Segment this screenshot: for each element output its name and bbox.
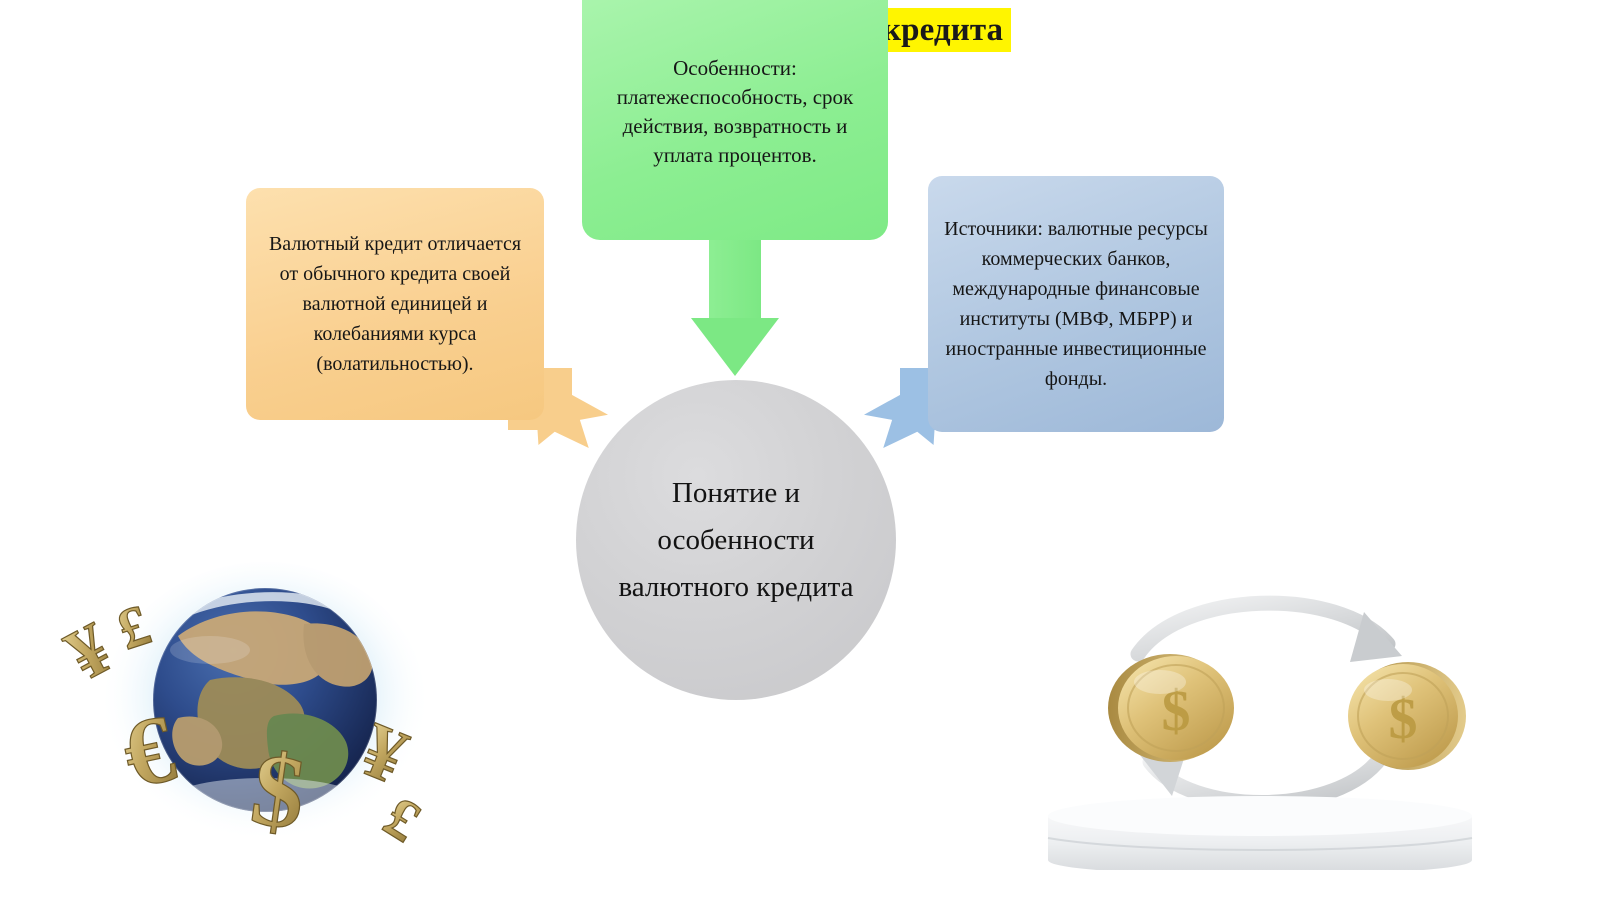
exchange-arrow-top: [1138, 603, 1388, 654]
yen-symbol-icon: ¥: [60, 607, 125, 697]
globe-with-currency-symbols-image: ¥ £ € $ ¥ £: [60, 540, 480, 880]
difference-callout-text: Валютный кредит отличается от обычного к…: [246, 229, 544, 379]
currency-exchange-coins-image: $ $: [1020, 550, 1500, 870]
exchange-arrow-bottom: [1150, 756, 1382, 803]
features-callout-text: Особенности: платежеспособность, срок де…: [582, 54, 888, 170]
green-arrow-stem: [709, 238, 761, 322]
coin-left-icon: $: [1108, 654, 1234, 762]
slide-canvas: Теоретичес отного кредита Валютный креди…: [0, 0, 1600, 899]
sources-callout[interactable]: Источники: валютные ресурсы коммерческих…: [928, 176, 1224, 432]
podium-shape: [1048, 796, 1472, 870]
features-callout[interactable]: Особенности: платежеспособность, срок де…: [582, 0, 888, 240]
center-concept-circle[interactable]: Понятие и особенности валютного кредита: [576, 380, 896, 700]
green-arrow-head-icon: [691, 318, 779, 376]
difference-callout[interactable]: Валютный кредит отличается от обычного к…: [246, 188, 544, 420]
coin-right-icon: $: [1348, 662, 1466, 770]
sources-callout-text: Источники: валютные ресурсы коммерческих…: [928, 214, 1224, 394]
center-concept-label: Понятие и особенности валютного кредита: [606, 470, 866, 611]
